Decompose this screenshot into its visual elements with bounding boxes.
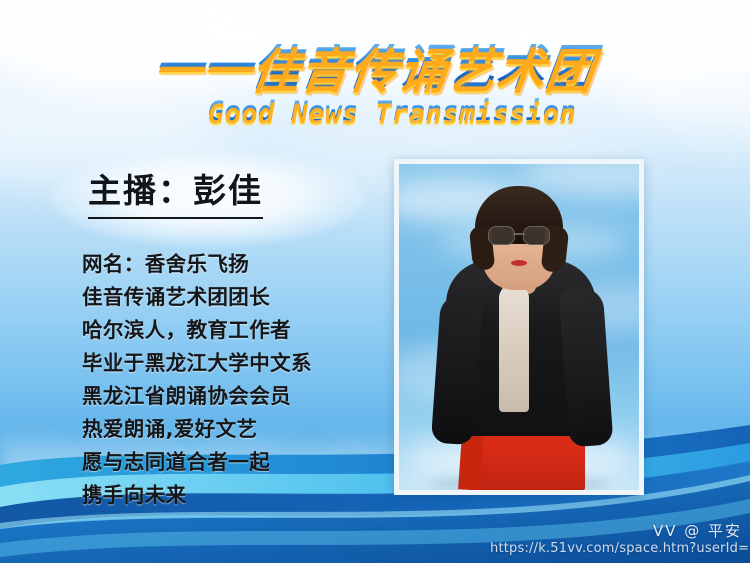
bio-line: 网名：香舍乐飞扬 [82,248,382,281]
blouse [499,284,529,412]
bio-line: 毕业于黑龙江大学中文系 [82,347,382,380]
eyeglasses-icon [488,226,550,244]
slide-canvas: 一一佳音传诵艺术团 一一佳音传诵艺术团 Good News Transmissi… [0,0,750,563]
bio-line: 佳音传诵艺术团团长 [82,281,382,314]
portrait-image [399,164,639,490]
bio-line: 愿与志同道合者一起 [82,446,382,479]
host-portrait-photo [394,159,644,495]
cloud-wisp [30,26,310,96]
lips [511,260,527,266]
host-name-heading: 主播：彭佳 [88,164,263,219]
bio-line: 热爱朗诵,爱好文艺 [82,413,382,446]
bio-text-block: 网名：香舍乐飞扬 佳音传诵艺术团团长 哈尔滨人，教育工作者 毕业于黑龙江大学中文… [82,248,382,512]
bio-line: 携手向未来 [82,479,382,512]
vv-watermark-logo: VV @ 平安 [653,520,742,541]
bio-line: 哈尔滨人，教育工作者 [82,314,382,347]
bio-line: 黑龙江省朗诵协会会员 [82,380,382,413]
vv-watermark-url: https://k.51vv.com/space.htm?userId=9540… [490,541,750,556]
person-figure [399,215,639,490]
